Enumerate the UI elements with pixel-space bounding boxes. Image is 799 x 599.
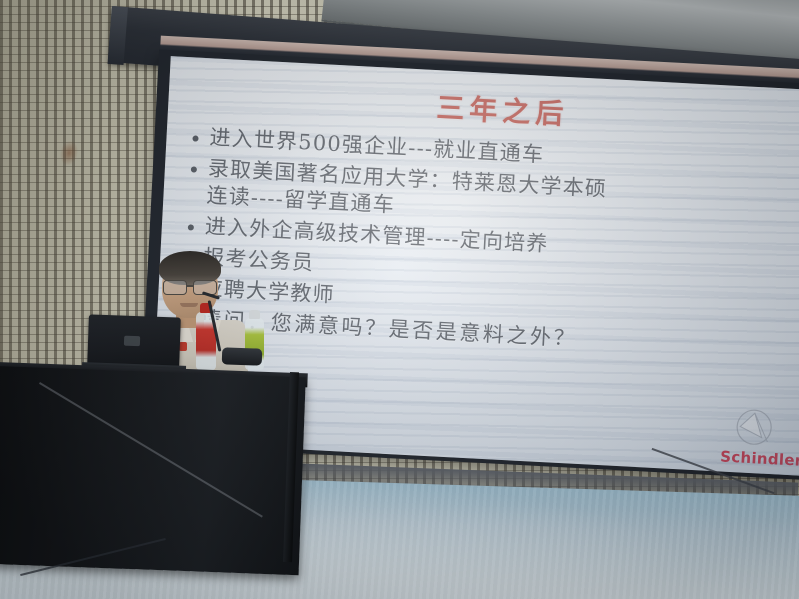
slide-bullet-list: 进入世界500强企业---就业直通车 录取美国著名应用大学：特莱恩大学本硕 连读… <box>182 123 799 368</box>
bullet-dot-icon <box>192 135 198 141</box>
bullet-dot-icon <box>191 166 197 172</box>
slide-title: 三年之后 <box>435 86 569 133</box>
green-bottle-cap <box>249 310 260 319</box>
glasses-lens-left <box>163 280 187 295</box>
schindler-wordmark: Schindler <box>720 447 799 469</box>
microphone-base <box>222 347 263 365</box>
schindler-logo: Schindler <box>676 403 799 471</box>
bullet-dot-icon <box>188 224 194 230</box>
photo-scene: 三年之后 进入世界500强企业---就业直通车 录取美国著名应用大学：特莱恩大学… <box>0 0 799 599</box>
laptop <box>87 314 181 369</box>
podium <box>0 366 306 575</box>
laptop-logo <box>124 336 140 347</box>
glasses-icon <box>162 280 218 293</box>
circle-swoosh-icon <box>733 406 775 448</box>
presenter-badge <box>179 342 187 351</box>
presenter-mouth <box>180 303 198 307</box>
bullet-text-line: 连读----留学直通车 <box>206 184 396 218</box>
